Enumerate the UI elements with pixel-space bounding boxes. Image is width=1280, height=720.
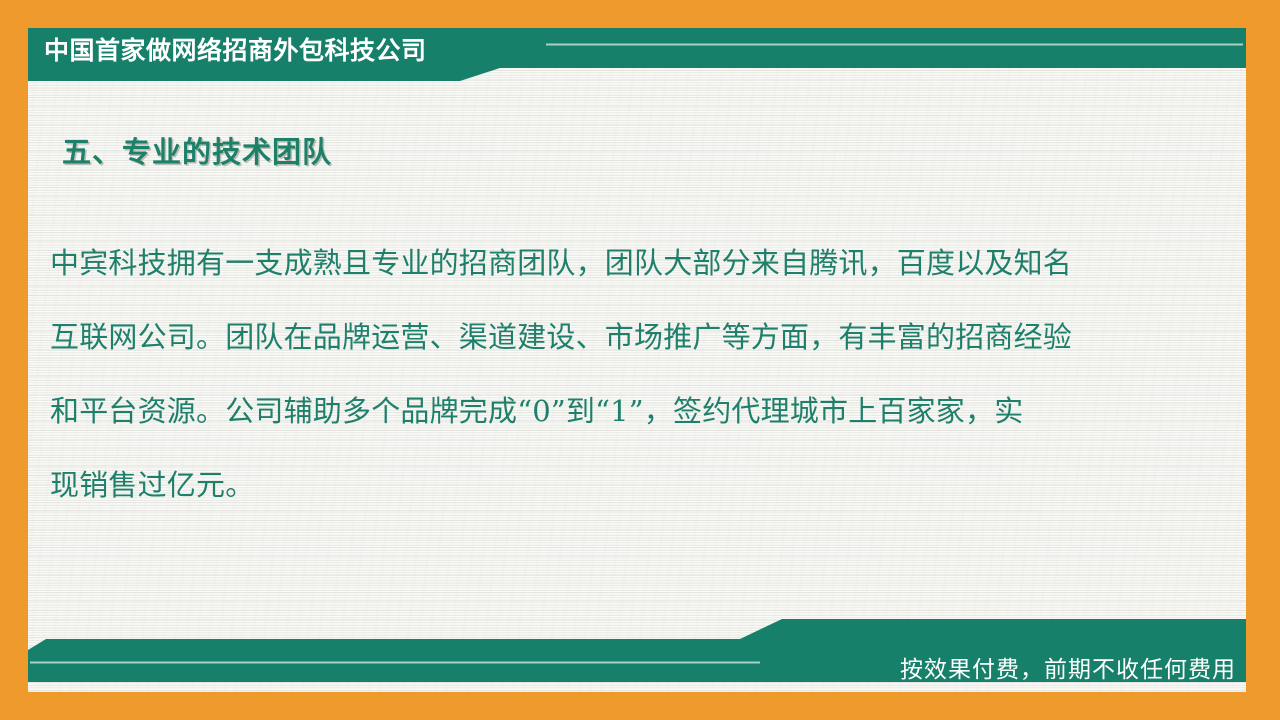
body-line: 中宾科技拥有一支成熟且专业的招商团队，团队大部分来自腾讯，百度以及知名	[50, 226, 1185, 300]
section-heading: 五、专业的技术团队	[62, 132, 332, 172]
body-line: 和平台资源。公司辅助多个品牌完成“0”到“1”，签约代理城市上百家家，实	[50, 374, 1185, 448]
slide-canvas: 中国首家做网络招商外包科技公司 五、专业的技术团队 中宾科技拥有一支成熟且专业的…	[0, 0, 1280, 720]
section-body-copy: 中宾科技拥有一支成熟且专业的招商团队，团队大部分来自腾讯，百度以及知名 互联网公…	[50, 226, 1185, 522]
body-line: 现销售过亿元。	[50, 448, 1185, 522]
body-line: 互联网公司。团队在品牌运营、渠道建设、市场推广等方面，有丰富的招商经验	[50, 300, 1185, 374]
